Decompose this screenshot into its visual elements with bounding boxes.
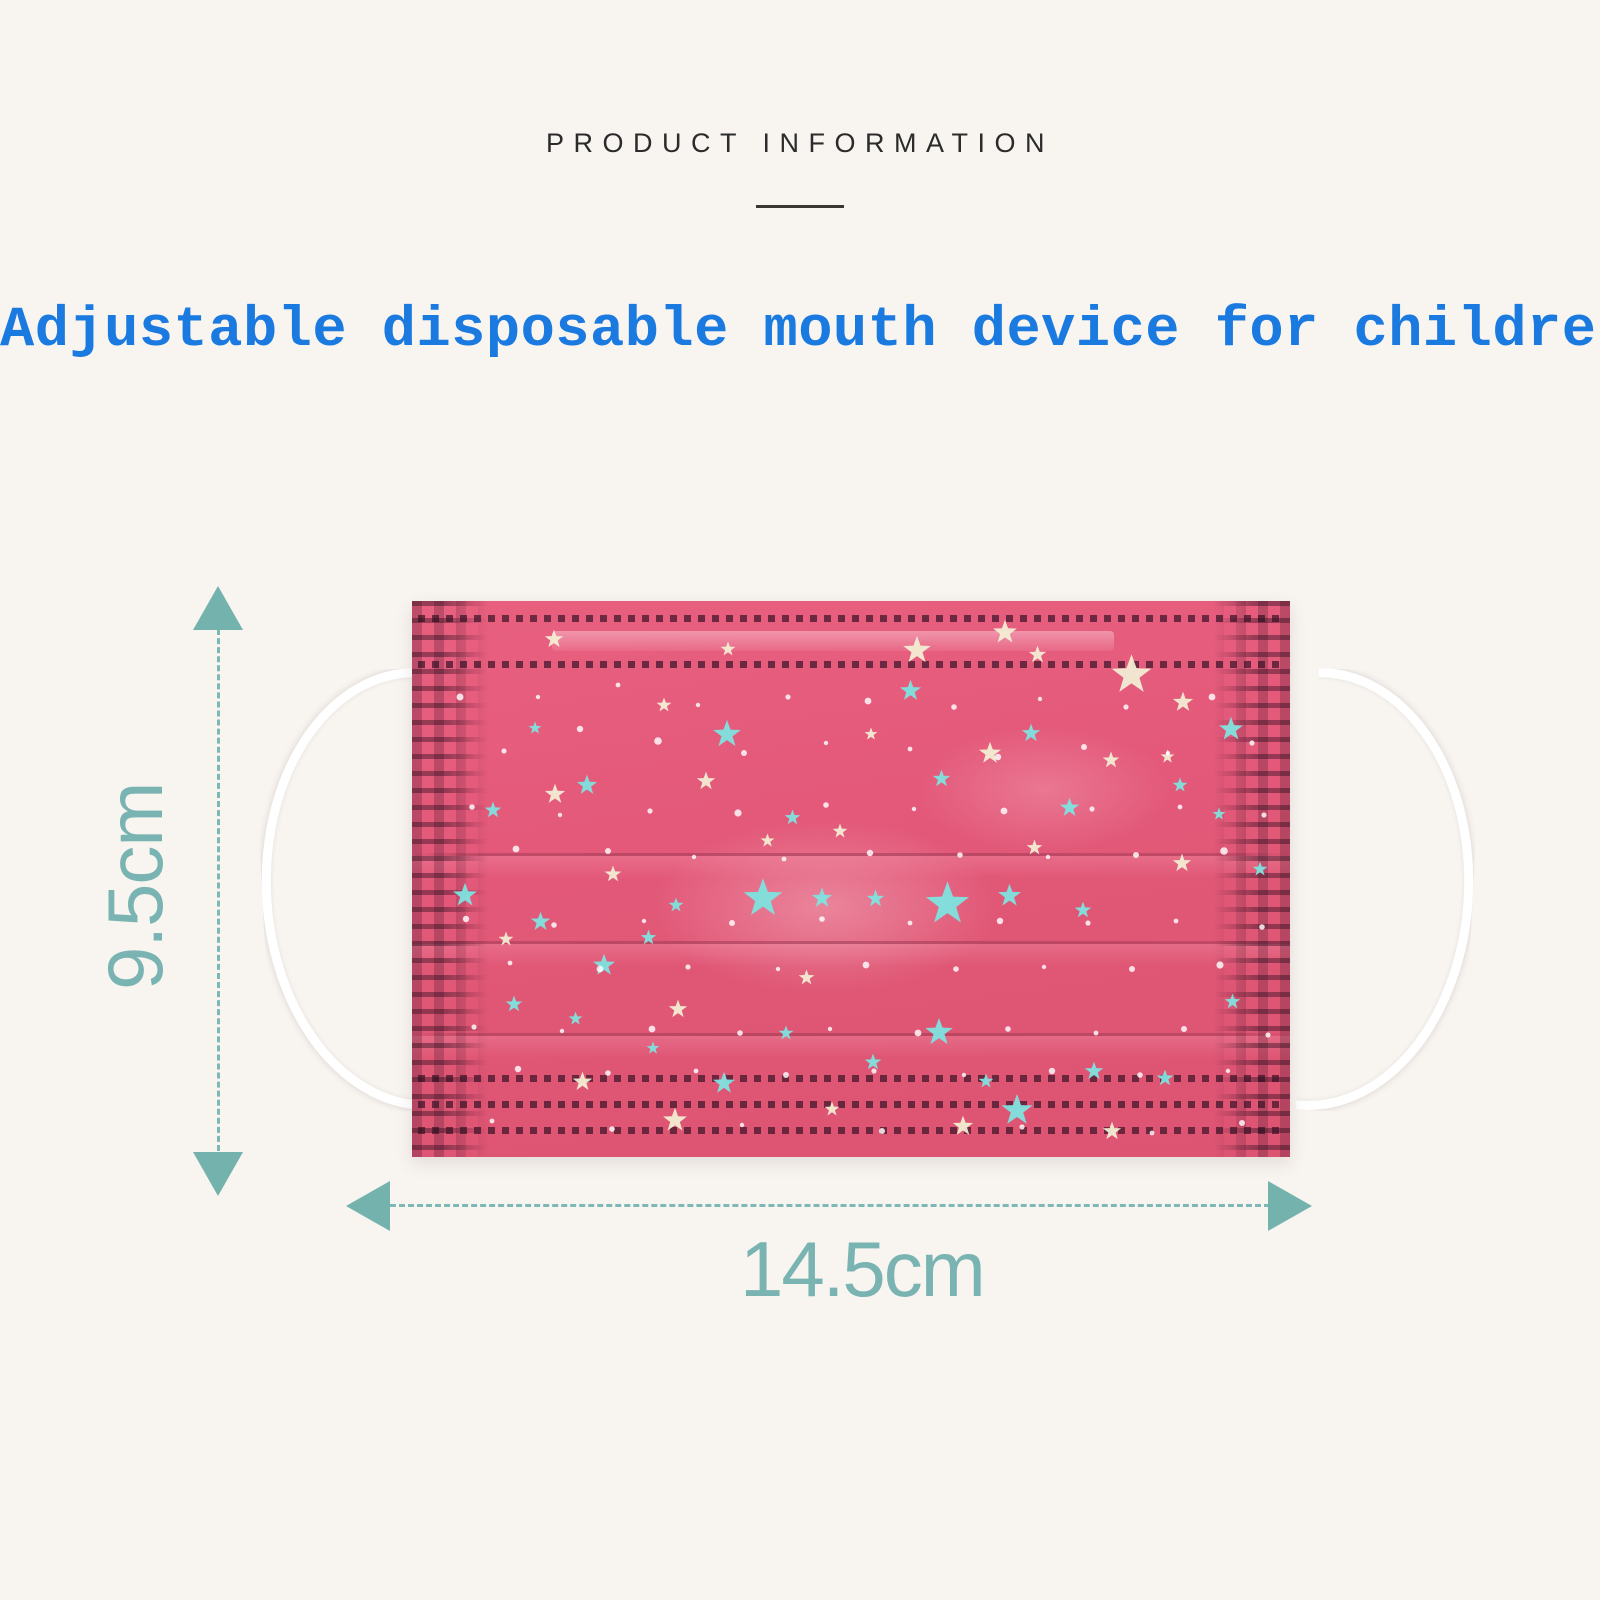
star-glitter-pattern: [412, 601, 1290, 1157]
face-mask-body: [412, 601, 1290, 1157]
dimension-label-width: 14.5cm: [740, 1230, 984, 1308]
dimension-label-height: 9.5cm: [96, 783, 174, 990]
product-image-stage: 9.5cm 14.5cm: [0, 0, 1600, 1600]
arrow-up-icon: [193, 586, 243, 630]
dimension-line-horizontal: [390, 1204, 1270, 1207]
dimension-line-vertical: [217, 620, 220, 1160]
arrow-right-icon: [1268, 1181, 1312, 1231]
arrow-left-icon: [346, 1181, 390, 1231]
arrow-down-icon: [193, 1152, 243, 1196]
